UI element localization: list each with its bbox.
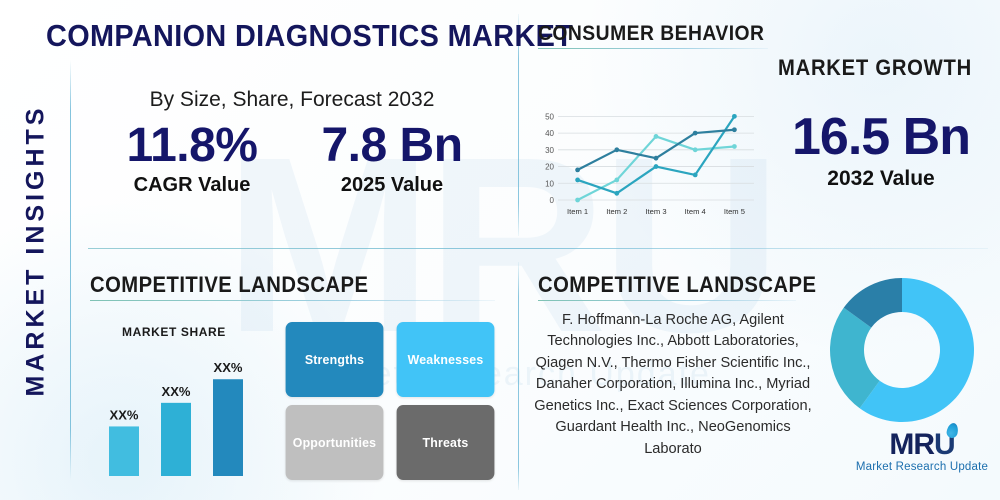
svg-text:XX%: XX% (214, 360, 243, 375)
swot-cell-weaknesses[interactable]: Weaknesses (397, 322, 495, 397)
kpi-2025-value: 7.8 Bn (292, 120, 492, 172)
kpi-cagr-value: 11.8% (92, 120, 292, 172)
market-share-donut-chart (826, 274, 978, 426)
svg-text:Item 1: Item 1 (567, 207, 588, 216)
market-growth-label: 2032 Value (770, 167, 992, 191)
logo-tagline: Market Research Update (848, 461, 996, 473)
page-title: COMPANION DIAGNOSTICS MARKET (46, 18, 474, 54)
svg-text:10: 10 (545, 179, 554, 188)
market-growth-value: 16.5 Bn (770, 110, 992, 165)
swot-cell-strengths[interactable]: Strengths (286, 322, 384, 397)
svg-text:30: 30 (545, 146, 554, 155)
market-share-bar-chart: XX%XX%XX% (95, 318, 265, 480)
swot-label: Opportunities (293, 435, 376, 450)
brand-logo: MRU Market Research Update (848, 430, 996, 473)
horizontal-divider (88, 248, 988, 249)
svg-text:Item 3: Item 3 (645, 207, 666, 216)
logo-letter-r: R (913, 428, 934, 461)
donut-chart-svg (826, 274, 978, 426)
swot-cell-opportunities[interactable]: Opportunities (286, 405, 384, 480)
market-growth-kpi: 16.5 Bn 2032 Value (770, 110, 992, 191)
kpi-2025-label: 2025 Value (292, 174, 492, 197)
svg-text:50: 50 (545, 112, 554, 121)
consumer-behavior-underline (538, 48, 768, 49)
svg-text:0: 0 (550, 196, 555, 205)
consumer-behavior-heading: CONSUMER BEHAVIOR (538, 22, 764, 46)
company-list: F. Hoffmann-La Roche AG, Agilent Technol… (528, 310, 818, 460)
svg-text:Item 4: Item 4 (685, 207, 706, 216)
logo-wordmark: MRU (889, 430, 954, 460)
swot-label: Weaknesses (408, 352, 484, 367)
sidebar-rail: MARKET INSIGHTS (0, 0, 72, 500)
kpi-2025: 7.8 Bn 2025 Value (292, 120, 492, 197)
svg-text:Item 5: Item 5 (724, 207, 745, 216)
sidebar-label: MARKET INSIGHTS (22, 104, 51, 396)
logo-letter-m: M (889, 428, 913, 461)
market-growth-heading: MARKET GROWTH (778, 55, 972, 81)
competitive-landscape-underline-right (538, 300, 796, 301)
svg-text:XX%: XX% (110, 407, 139, 422)
swot-grid: StrengthsWeaknessesOpportunitiesThreats (283, 322, 497, 480)
svg-text:Item 2: Item 2 (606, 207, 627, 216)
vertical-divider-bottom (518, 262, 519, 490)
competitive-landscape-underline-left (90, 300, 495, 301)
line-chart-svg: 01020304050Item 1Item 2Item 3Item 4Item … (532, 100, 762, 222)
consumer-behavior-line-chart: 01020304050Item 1Item 2Item 3Item 4Item … (532, 100, 762, 222)
kpi-row: 11.8% CAGR Value 7.8 Bn 2025 Value (92, 120, 492, 197)
page-subtitle: By Size, Share, Forecast 2032 (92, 88, 492, 112)
svg-text:40: 40 (545, 129, 554, 138)
swot-label: Threats (423, 435, 469, 450)
kpi-cagr-label: CAGR Value (92, 174, 292, 197)
bar-chart-svg: XX%XX%XX% (95, 318, 265, 480)
svg-text:XX%: XX% (162, 384, 191, 399)
competitive-landscape-heading-left: COMPETITIVE LANDSCAPE (90, 272, 368, 298)
swot-cell-threats[interactable]: Threats (397, 405, 495, 480)
svg-text:20: 20 (545, 163, 554, 172)
kpi-cagr: 11.8% CAGR Value (92, 120, 292, 197)
infographic-page: MRU Market Research Update MARKET INSIGH… (0, 0, 1000, 500)
competitive-landscape-heading-right: COMPETITIVE LANDSCAPE (538, 272, 816, 298)
swot-label: Strengths (305, 352, 364, 367)
